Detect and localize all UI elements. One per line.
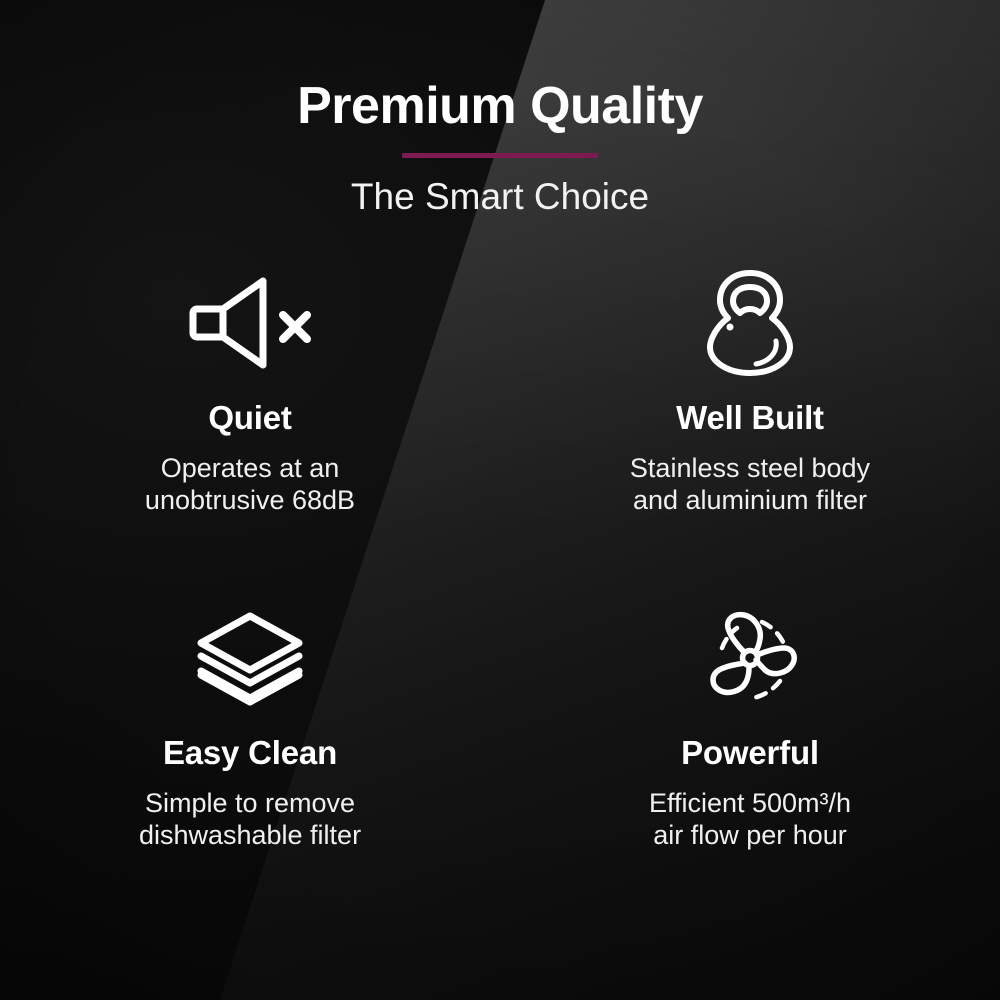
speaker-mute-icon <box>184 267 316 379</box>
kettlebell-icon <box>684 267 816 379</box>
feature-title: Well Built <box>676 401 824 434</box>
feature-description: Simple to remove dishwashable filter <box>139 788 361 852</box>
feature-title: Powerful <box>681 736 819 769</box>
promo-graphic: Premium Quality The Smart Choice Quiet O… <box>0 0 1000 1000</box>
page-subtitle: The Smart Choice <box>0 178 1000 215</box>
feature-description: Operates at an unobtrusive 68dB <box>145 453 355 517</box>
feature-description: Stainless steel body and aluminium filte… <box>630 453 870 517</box>
feature-card-well-built: Well Built Stainless steel body and alum… <box>500 255 1000 590</box>
feature-card-powerful: Powerful Efficient 500m³/h air flow per … <box>500 590 1000 925</box>
title-accent-divider <box>402 153 598 158</box>
feature-description: Efficient 500m³/h air flow per hour <box>649 788 851 852</box>
feature-card-easy-clean: Easy Clean Simple to remove dishwashable… <box>0 590 500 925</box>
feature-card-quiet: Quiet Operates at an unobtrusive 68dB <box>0 255 500 590</box>
feature-title: Easy Clean <box>163 736 337 769</box>
header: Premium Quality The Smart Choice <box>0 80 1000 215</box>
fan-blades-icon <box>684 602 816 714</box>
stacked-layers-icon <box>184 602 316 714</box>
feature-grid: Quiet Operates at an unobtrusive 68dB We… <box>0 255 1000 925</box>
page-title: Premium Quality <box>0 80 1000 132</box>
feature-title: Quiet <box>208 401 291 434</box>
